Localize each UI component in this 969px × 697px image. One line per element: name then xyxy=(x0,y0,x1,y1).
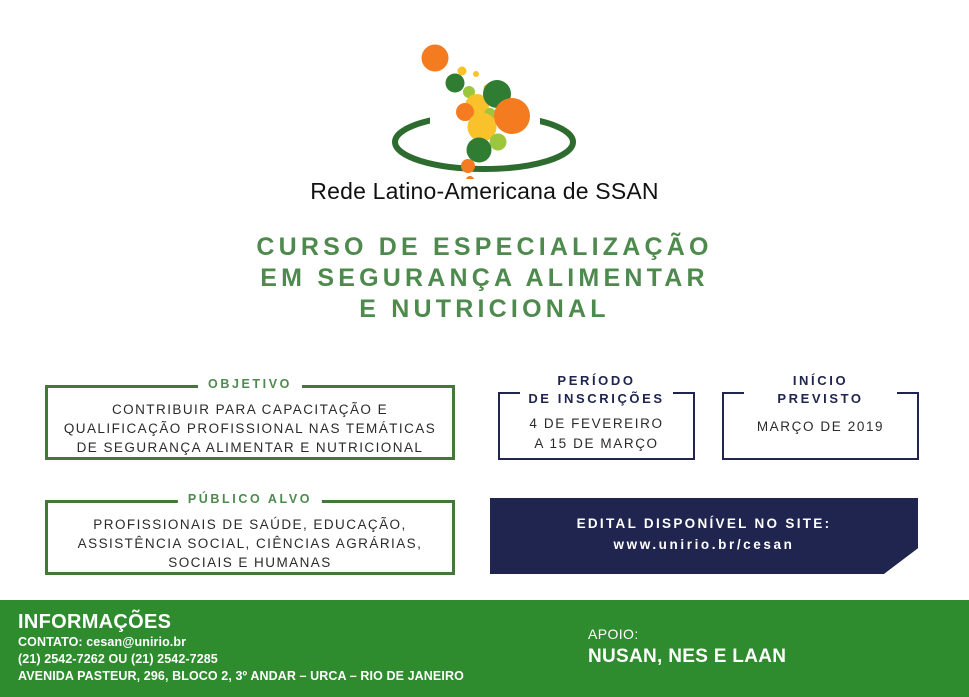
objetivo-label: OBJETIVO xyxy=(198,377,302,391)
objetivo-line-3: DE SEGURANÇA ALIMENTAR E NUTRICIONAL xyxy=(48,438,452,457)
apoio-label: APOIO: xyxy=(588,624,786,644)
periodo-line-2: A 15 DE MARÇO xyxy=(498,434,695,454)
page-title-line-1: CURSO DE ESPECIALIZAÇÃO xyxy=(0,232,969,263)
page-title: CURSO DE ESPECIALIZAÇÃO EM SEGURANÇA ALI… xyxy=(0,232,969,325)
inicio-previsto-box: INÍCIO PREVISTO MARÇO DE 2019 xyxy=(722,370,919,460)
edital-panel[interactable]: EDITAL DISPONÍVEL NO SITE: www.unirio.br… xyxy=(490,498,918,574)
page-title-line-2: EM SEGURANÇA ALIMENTAR xyxy=(0,263,969,294)
informacoes-title: INFORMAÇÕES xyxy=(18,610,464,634)
publico-alvo-line-3: SOCIAIS E HUMANAS xyxy=(48,553,452,572)
objetivo-line-2: QUALIFICAÇÃO PROFISSIONAL NAS TEMÁTICAS xyxy=(48,419,452,438)
poster-root: Rede Latino-Americana de SSAN CURSO DE E… xyxy=(0,0,969,697)
objetivo-line-1: CONTRIBUIR PARA CAPACITAÇÃO E xyxy=(48,400,452,419)
inicio-previsto-label: INÍCIO PREVISTO xyxy=(722,372,919,408)
publico-alvo-body: PROFISSIONAIS DE SAÚDE, EDUCAÇÃO, ASSIST… xyxy=(48,515,452,572)
logo-circle-14 xyxy=(467,138,492,163)
logo-circle-13 xyxy=(490,134,507,151)
footer-bar: INFORMAÇÕES CONTATO: cesan@unirio.br (21… xyxy=(0,600,969,697)
ssan-logo-graphic xyxy=(0,14,969,179)
logo-circle-15 xyxy=(461,159,475,173)
objetivo-box: OBJETIVO CONTRIBUIR PARA CAPACITAÇÃO E Q… xyxy=(45,385,455,460)
informacoes-endereco: AVENIDA PASTEUR, 296, BLOCO 2, 3º ANDAR … xyxy=(18,668,464,685)
apoio-value: NUSAN, NES E LAAN xyxy=(588,644,786,670)
logo-wordmark: Rede Latino-Americana de SSAN xyxy=(0,178,969,205)
logo-circle-12 xyxy=(494,98,530,134)
logo-circle-2 xyxy=(473,71,479,77)
periodo-inscricoes-box: PERÍODO DE INSCRIÇÕES 4 DE FEVEREIRO A 1… xyxy=(498,370,695,460)
objetivo-body: CONTRIBUIR PARA CAPACITAÇÃO E QUALIFICAÇ… xyxy=(48,400,452,457)
footer-apoio: APOIO: NUSAN, NES E LAAN xyxy=(588,624,786,670)
periodo-body: 4 DE FEVEREIRO A 15 DE MARÇO xyxy=(498,414,695,454)
publico-alvo-line-2: ASSISTÊNCIA SOCIAL, CIÊNCIAS AGRÁRIAS, xyxy=(48,534,452,553)
logo-circle-1 xyxy=(458,67,467,76)
publico-alvo-label: PÚBLICO ALVO xyxy=(178,492,322,506)
edital-url[interactable]: www.unirio.br/cesan xyxy=(490,537,918,552)
informacoes-contato[interactable]: CONTATO: cesan@unirio.br xyxy=(18,634,464,651)
periodo-inscricoes-label: PERÍODO DE INSCRIÇÕES xyxy=(498,372,695,408)
informacoes-telefones: (21) 2542-7262 OU (21) 2542-7285 xyxy=(18,651,464,668)
edital-heading: EDITAL DISPONÍVEL NO SITE: xyxy=(490,516,918,531)
logo-circle-3 xyxy=(446,74,465,93)
inicio-line-1: MARÇO DE 2019 xyxy=(722,417,919,437)
periodo-line-1: 4 DE FEVEREIRO xyxy=(498,414,695,434)
footer-informacoes: INFORMAÇÕES CONTATO: cesan@unirio.br (21… xyxy=(18,610,464,685)
page-title-line-3: E NUTRICIONAL xyxy=(0,294,969,325)
ssan-logo xyxy=(0,14,969,179)
publico-alvo-box: PÚBLICO ALVO PROFISSIONAIS DE SAÚDE, EDU… xyxy=(45,500,455,575)
inicio-body: MARÇO DE 2019 xyxy=(722,417,919,437)
publico-alvo-line-1: PROFISSIONAIS DE SAÚDE, EDUCAÇÃO, xyxy=(48,515,452,534)
logo-circle-0 xyxy=(422,45,449,72)
